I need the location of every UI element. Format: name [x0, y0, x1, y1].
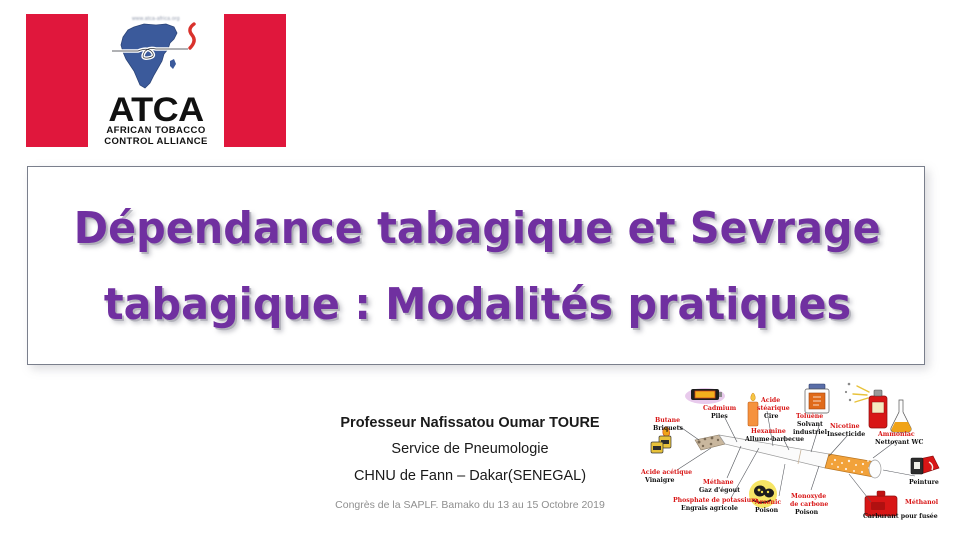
label-chemical-9: Phosphate de potassium	[673, 497, 758, 504]
label-use-1: Piles	[711, 413, 728, 420]
label-chemical-11b: de carbone	[790, 501, 828, 508]
label-chemical-5: Nicotine	[830, 423, 860, 430]
logo-center-panel: www.atca-africa.org ATCA AFRICAN TOBACCO…	[88, 14, 224, 147]
label-chemical-6: Ammoniac	[877, 431, 915, 438]
africa-map-icon	[104, 21, 208, 93]
label-use-2: Cire	[764, 413, 779, 420]
label-use-11: Poison	[795, 509, 819, 516]
atca-logo: www.atca-africa.org ATCA AFRICAN TOBACCO…	[26, 14, 286, 147]
label-use-7: Vinaigre	[644, 477, 674, 484]
label-use-5: Insecticide	[827, 431, 865, 438]
logo-red-bar-right	[224, 14, 286, 147]
icon-solvent-bottle	[805, 384, 829, 413]
label-chemical-1: Cadmium	[703, 405, 737, 412]
slide-title: Dépendance tabagique et Sevrage tabagiqu…	[28, 167, 926, 366]
label-chemical-2b: stéarique	[757, 405, 790, 412]
logo-wordmark-group: ATCA AFRICAN TOBACCO CONTROL ALLIANCE	[88, 94, 224, 147]
label-chemical-12: Méthanol	[905, 499, 939, 506]
label-chemical-3: Hexamine	[751, 428, 786, 435]
label-use-6: Nettoyant WC	[875, 439, 923, 446]
title-line-2: tabagique : Modalités pratiques	[103, 267, 850, 343]
label-use-10: Poison	[755, 507, 779, 514]
logo-subtitle-line2: CONTROL ALLIANCE	[88, 137, 224, 148]
label-use-12: Carburant pour fusée	[863, 513, 938, 520]
logo-red-bar-left	[26, 14, 88, 147]
icon-flask	[891, 400, 911, 432]
label-use-0: Briquets	[653, 425, 683, 432]
cigarette-diagram-svg: Butane Briquets Cadmium Piles Acide stéa…	[633, 378, 960, 538]
label-chemical-4: Toluène	[796, 413, 823, 420]
label-use-3: Allume-barbecue	[744, 436, 804, 443]
label-use-4b: industriel	[793, 429, 828, 436]
label-chemical-8: Méthane	[703, 479, 734, 486]
icon-paint-can	[911, 456, 939, 474]
label-use-8: Gaz d'égout	[699, 487, 740, 494]
label-use-13: Peinture	[909, 479, 939, 486]
logo-atca-text: ATCA	[84, 94, 228, 126]
label-chemical-11: Monoxyde	[791, 493, 826, 500]
label-use-9: Engrais agricole	[681, 505, 738, 512]
cigarette-chemicals-figure: Butane Briquets Cadmium Piles Acide stéa…	[633, 378, 960, 538]
label-chemical-2: Acide	[760, 397, 780, 404]
label-chemical-7: Acide acétique	[640, 469, 692, 476]
icon-insecticide-spray	[845, 383, 887, 428]
title-line-1: Dépendance tabagique et Sevrage	[74, 191, 881, 267]
label-chemical-10: Arsenic	[754, 499, 781, 506]
title-box: Dépendance tabagique et Sevrage tabagiqu…	[27, 166, 925, 365]
icon-battery	[685, 388, 725, 404]
label-chemical-0: Butane	[655, 417, 680, 424]
label-use-4: Solvant	[797, 421, 823, 428]
